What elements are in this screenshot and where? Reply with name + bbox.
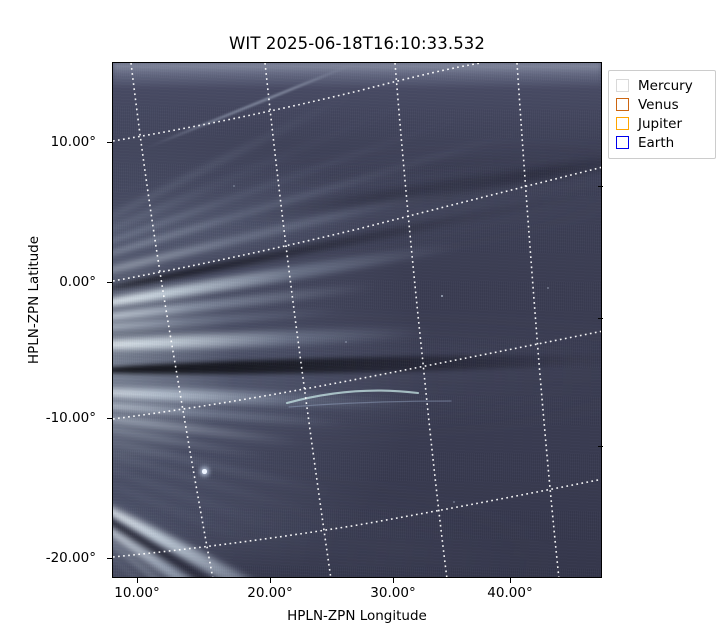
legend-label: Mercury: [638, 78, 693, 94]
plot-axes[interactable]: [112, 62, 602, 578]
ytick-label: -20.00°: [46, 550, 96, 566]
ytick-mark-right: [598, 446, 603, 447]
xtick-mark: [393, 578, 394, 583]
xtick-label: 30.00°: [370, 585, 415, 601]
xtick-mark: [137, 578, 138, 583]
ytick-mark-right: [598, 186, 603, 187]
ytick-label: -10.00°: [46, 410, 96, 426]
ytick-mark: [107, 282, 112, 283]
legend-item-venus[interactable]: Venus: [616, 95, 709, 114]
jupiter-swatch-icon: [616, 117, 629, 130]
legend-item-mercury[interactable]: Mercury: [616, 76, 709, 95]
page-title: WIT 2025-06-18T16:10:33.532: [112, 34, 602, 53]
legend-item-jupiter[interactable]: Jupiter: [616, 114, 709, 133]
ytick-mark: [107, 142, 112, 143]
x-axis-label: HPLN-ZPN Longitude: [112, 608, 602, 624]
legend-label: Venus: [638, 97, 679, 113]
coordinate-graticule: [113, 63, 602, 578]
ytick-mark: [107, 418, 112, 419]
mercury-swatch-icon: [616, 79, 629, 92]
xtick-mark: [510, 578, 511, 583]
xtick-label: 20.00°: [247, 585, 292, 601]
figure-canvas: WIT 2025-06-18T16:10:33.532: [0, 0, 720, 640]
earth-swatch-icon: [616, 136, 629, 149]
legend-label: Jupiter: [638, 116, 682, 132]
ytick-label: 10.00°: [51, 134, 96, 150]
xtick-label: 40.00°: [487, 585, 532, 601]
xtick-label: 10.00°: [114, 585, 159, 601]
legend-item-earth[interactable]: Earth: [616, 133, 709, 152]
legend-label: Earth: [638, 135, 674, 151]
legend[interactable]: Mercury Venus Jupiter Earth: [608, 70, 716, 159]
ytick-mark: [107, 558, 112, 559]
venus-swatch-icon: [616, 98, 629, 111]
ytick-mark-right: [598, 318, 603, 319]
ytick-label: 0.00°: [59, 274, 96, 290]
y-axis-label: HPLN-ZPN Latitude: [26, 200, 42, 400]
xtick-mark: [270, 578, 271, 583]
